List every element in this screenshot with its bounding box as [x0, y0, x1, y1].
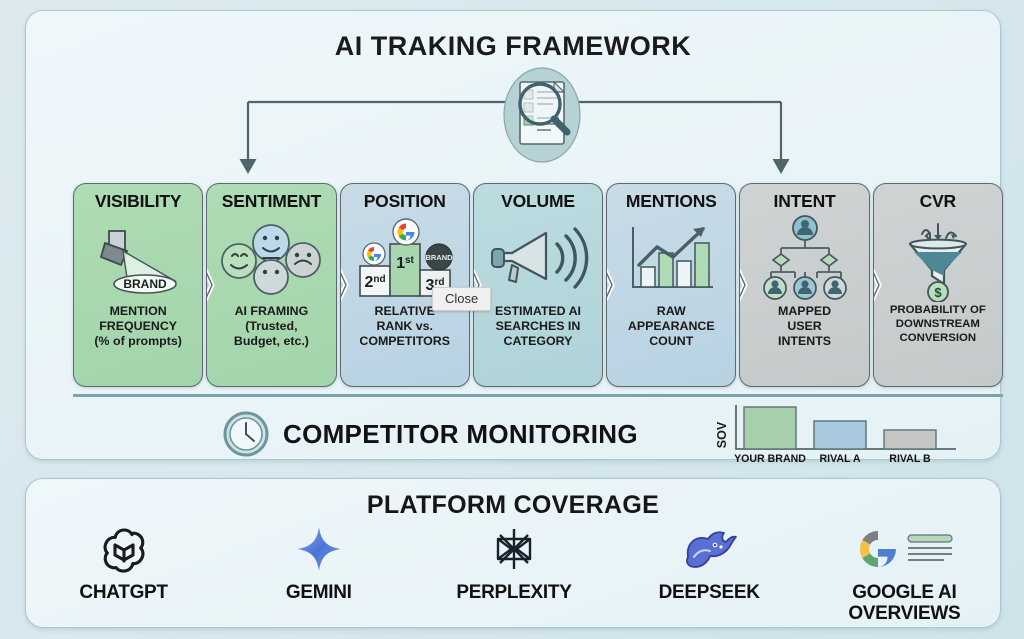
pillar-title: VOLUME: [501, 191, 575, 212]
framework-title: AI TRAKING FRAMEWORK: [26, 31, 1000, 62]
section-divider: [73, 394, 1003, 397]
google-chip-icon: [363, 243, 385, 265]
funnel-dollar-icon: $: [874, 214, 1002, 302]
sov-tick-label: YOUR BRAND: [734, 453, 806, 465]
pillar-mentions[interactable]: MENTIONS RAWAPPEARANCECOUNT: [606, 183, 736, 387]
pillar-intent[interactable]: INTENT: [739, 183, 869, 387]
pillar-desc: AI FRAMING(Trusted,Budget, etc.): [230, 304, 313, 349]
document-magnifier-icon: [492, 66, 592, 164]
framework-panel: AI TRAKING FRAMEWORK VISIBILITY: [25, 10, 1001, 460]
sov-axis-label: SOV: [716, 421, 729, 448]
sov-bar-your-brand: [744, 407, 796, 449]
pillar-desc: RAWAPPEARANCECOUNT: [624, 304, 719, 349]
bar-chart-trend-icon: [607, 214, 735, 302]
platform-coverage-title: PLATFORM COVERAGE: [26, 491, 1000, 520]
pillar-desc: MAPPEDUSERINTENTS: [774, 304, 835, 349]
pillar-desc: ESTIMATED AISEARCHES INCATEGORY: [491, 304, 585, 349]
platform-item-deepseek[interactable]: DEEPSEEK: [622, 523, 797, 604]
platform-item-gemini[interactable]: GEMINI: [231, 523, 406, 604]
perplexity-logo-icon: [488, 523, 540, 575]
platform-item-google-ai-overviews[interactable]: GOOGLE AIOVERVIEWS: [817, 523, 992, 624]
arrow-head-right: [773, 159, 790, 174]
competitor-monitoring-title: COMPETITOR MONITORING: [283, 419, 638, 450]
openai-logo-icon: [98, 523, 150, 575]
pillar-cvr[interactable]: CVR $ PROBABILITY OFDOWNSTREAMCONVERSION: [873, 183, 1003, 387]
user-hierarchy-icon: [740, 214, 868, 302]
pillar-visibility[interactable]: VISIBILITY BRAND MENTIONFREQUENCY(% of p…: [73, 183, 203, 387]
platform-label: GEMINI: [286, 583, 352, 604]
spotlight-brand-icon: BRAND: [74, 214, 202, 302]
sov-tick-label: RIVAL A: [819, 453, 860, 465]
pillar-title: VISIBILITY: [95, 191, 181, 212]
google-chip-icon: [393, 219, 419, 245]
pillar-title: POSITION: [364, 191, 446, 212]
pillar-desc: MENTIONFREQUENCY(% of prompts): [90, 304, 185, 349]
pillar-position[interactable]: POSITION 2nd 1st 3rd: [340, 183, 470, 387]
sov-bar-chart: SOV YOUR BRAND RIVAL A RIVAL B: [716, 401, 966, 467]
brand-chip-icon: BRAND: [425, 244, 453, 270]
emoji-faces-icon: [207, 214, 335, 302]
pillar-title: CVR: [920, 191, 956, 212]
sov-bar-rival-a: [814, 421, 866, 449]
sov-bar-rival-b: [884, 430, 936, 449]
arrow-head-left: [240, 159, 257, 174]
pillar-title: INTENT: [774, 191, 836, 212]
pillar-row: VISIBILITY BRAND MENTIONFREQUENCY(% of p…: [73, 183, 1003, 387]
deepseek-whale-icon: [680, 523, 738, 575]
sov-tick-label: RIVAL B: [889, 453, 931, 465]
google-ai-overviews-icon: [852, 523, 956, 575]
pillar-desc: PROBABILITY OFDOWNSTREAMCONVERSION: [886, 304, 990, 346]
platform-item-chatgpt[interactable]: CHATGPT: [36, 523, 211, 604]
pillar-sentiment[interactable]: SENTIMENT: [206, 183, 336, 387]
pillar-title: MENTIONS: [626, 191, 717, 212]
gemini-sparkle-icon: [293, 523, 345, 575]
megaphone-icon: [474, 214, 602, 302]
spotlight-label: BRAND: [123, 277, 167, 291]
svg-text:BRAND: BRAND: [425, 253, 453, 262]
google-g-icon: [860, 531, 896, 567]
platform-label: DEEPSEEK: [659, 583, 760, 604]
platform-list: CHATGPT GEMINI: [26, 523, 1002, 627]
platform-label: GOOGLE AIOVERVIEWS: [848, 583, 960, 624]
pillar-volume[interactable]: VOLUME ESTIMATED AISEARCHES INCATEGORY: [473, 183, 603, 387]
clock-icon: [223, 411, 269, 457]
platform-item-perplexity[interactable]: PERPLEXITY: [426, 523, 601, 604]
overview-highlight-bar: [908, 535, 952, 542]
platform-coverage-panel: PLATFORM COVERAGE: [25, 478, 1001, 628]
platform-label: CHATGPT: [79, 583, 167, 604]
platform-label: PERPLEXITY: [456, 583, 571, 604]
pillar-title: SENTIMENT: [222, 191, 321, 212]
competitor-monitoring-row: COMPETITOR MONITORING SOV YOUR BRAND RIV…: [73, 403, 1003, 465]
close-tooltip[interactable]: Close: [432, 287, 491, 311]
svg-text:$: $: [934, 285, 942, 300]
